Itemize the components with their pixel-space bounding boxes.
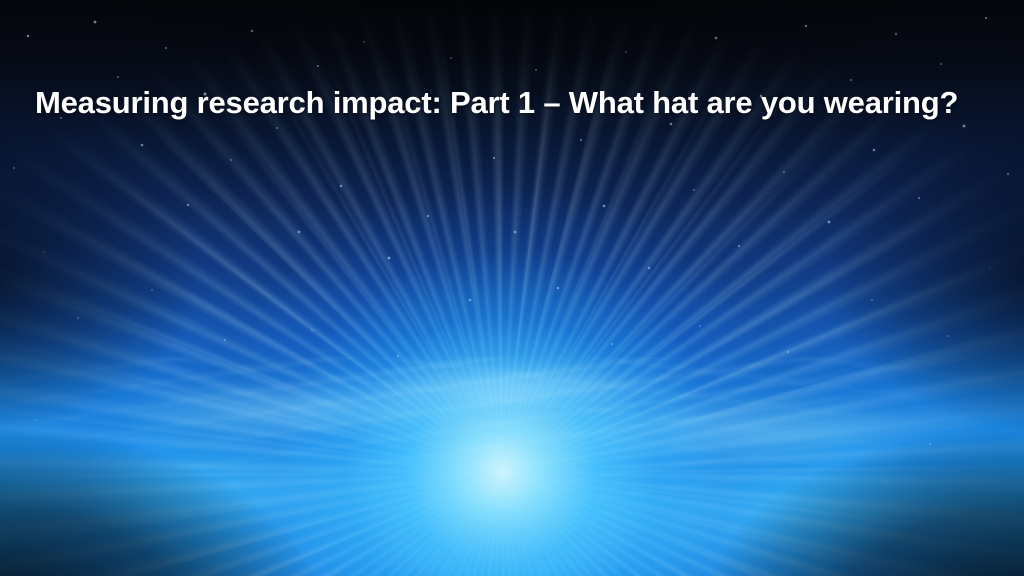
presentation-slide: Measuring research impact: Part 1 – What… [0, 0, 1024, 576]
slide-title: Measuring research impact: Part 1 – What… [35, 86, 995, 120]
luminous-surface [0, 346, 1024, 576]
surface-ripples [0, 357, 1024, 576]
